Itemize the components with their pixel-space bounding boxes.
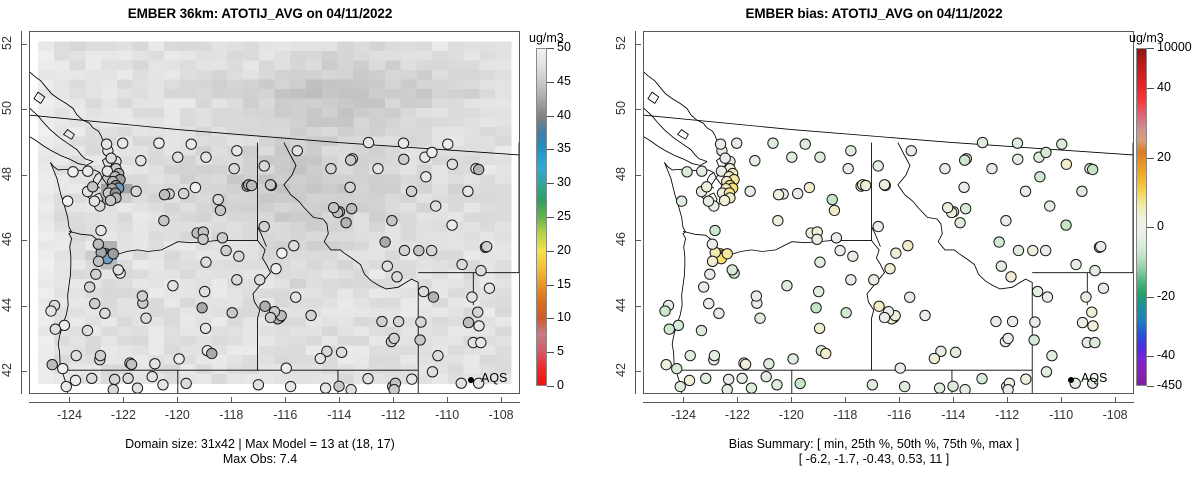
colorbar-tick-label: -20 xyxy=(1157,289,1175,303)
caption-line-1-model: Domain size: 31x42 | Max Model = 13 at (… xyxy=(0,437,520,452)
caption-line-1-bias: Bias Summary: [ min, 25th %, 50th %, 75t… xyxy=(614,437,1134,452)
panel-model: EMBER 36km: ATOTIJ_AVG on 04/11/2022 424… xyxy=(0,0,600,479)
x-axis-tick xyxy=(393,397,394,403)
plot-area-model[interactable] xyxy=(29,31,520,394)
y-axis-tick xyxy=(21,240,27,241)
x-axis-tick xyxy=(899,397,900,403)
x-axis-label: -114 xyxy=(930,408,976,422)
y-axis-label: 42 xyxy=(614,355,628,385)
colorbar-tick xyxy=(547,116,554,117)
y-axis-tick xyxy=(21,175,27,176)
colorbar-tick xyxy=(1147,158,1154,159)
x-axis-tick xyxy=(285,397,286,403)
x-axis-tick xyxy=(123,397,124,403)
colorbar-strip-bias xyxy=(1136,48,1147,386)
y-axis-tick xyxy=(21,306,27,307)
x-axis-label: -112 xyxy=(984,408,1030,422)
x-axis-label: -112 xyxy=(370,408,416,422)
colorbar-tick-label: 0 xyxy=(557,378,564,392)
x-axis-tick xyxy=(953,397,954,403)
y-axis-tick xyxy=(635,306,641,307)
colorbar-tick xyxy=(547,352,554,353)
colorbar-tick xyxy=(1147,297,1154,298)
x-axis-tick xyxy=(1007,397,1008,403)
y-axis-line xyxy=(635,31,636,394)
x-axis-tick xyxy=(339,397,340,403)
colorbar-tick-label: 15 xyxy=(557,277,571,291)
caption-line-2-model: Max Obs: 7.4 xyxy=(0,452,520,467)
colorbar-tick xyxy=(547,217,554,218)
y-axis-line xyxy=(21,31,22,394)
x-axis-tick xyxy=(737,397,738,403)
observation-points xyxy=(660,137,1109,393)
y-axis-tick xyxy=(21,109,27,110)
y-axis-label: 52 xyxy=(614,28,628,58)
aqs-legend-label-bias: AQS xyxy=(1081,371,1107,385)
y-axis-label: 46 xyxy=(0,224,14,254)
panel-title-model: EMBER 36km: ATOTIJ_AVG on 04/11/2022 xyxy=(0,6,520,21)
x-axis-tick xyxy=(1115,397,1116,403)
model-grid-raster xyxy=(38,42,511,384)
x-axis-tick xyxy=(791,397,792,403)
x-axis-tick xyxy=(1061,397,1062,403)
x-axis-label: -118 xyxy=(208,408,254,422)
x-axis-tick xyxy=(683,397,684,403)
y-axis-label: 50 xyxy=(614,93,628,123)
y-axis-label: 52 xyxy=(0,28,14,58)
colorbar-tick-label: 45 xyxy=(557,74,571,88)
colorbar-tick xyxy=(1147,356,1154,357)
y-axis-label: 48 xyxy=(614,159,628,189)
map-canvas-model xyxy=(30,32,519,393)
colorbar-tick-label: 5 xyxy=(557,344,564,358)
y-axis-tick xyxy=(635,175,641,176)
colorbar-tick xyxy=(547,149,554,150)
x-axis-label: -108 xyxy=(478,408,524,422)
panel-title-bias: EMBER bias: ATOTIJ_AVG on 04/11/2022 xyxy=(614,6,1134,21)
panel-bias: EMBER bias: ATOTIJ_AVG on 04/11/2022 424… xyxy=(600,0,1200,479)
y-axis-label: 44 xyxy=(614,290,628,320)
colorbar-tick-label: 50 xyxy=(557,40,571,54)
x-axis-label: -124 xyxy=(46,408,92,422)
colorbar-tick xyxy=(1147,227,1154,228)
colorbar-tick-label: 0 xyxy=(1157,219,1164,233)
colorbar-tick-label: -450 xyxy=(1157,378,1182,392)
colorbar-tick xyxy=(547,48,554,49)
x-axis-tick xyxy=(447,397,448,403)
colorbar-tick xyxy=(547,386,554,387)
x-axis-tick xyxy=(69,397,70,403)
y-axis-label: 50 xyxy=(0,93,14,123)
x-axis-label: -110 xyxy=(424,408,470,422)
x-axis-label: -118 xyxy=(822,408,868,422)
y-axis-tick xyxy=(21,371,27,372)
colorbar-tick-label: 30 xyxy=(557,175,571,189)
colorbar-tick-label: 40 xyxy=(1157,80,1171,94)
x-axis-label: -108 xyxy=(1092,408,1138,422)
y-axis-label: 44 xyxy=(0,290,14,320)
colorbar-tick-label: 40 xyxy=(557,108,571,122)
x-axis-label: -124 xyxy=(660,408,706,422)
x-axis-label: -116 xyxy=(876,408,922,422)
y-axis-tick xyxy=(635,109,641,110)
x-axis-tick xyxy=(231,397,232,403)
x-axis-label: -114 xyxy=(316,408,362,422)
x-axis-label: -120 xyxy=(768,408,814,422)
colorbar-tick xyxy=(547,318,554,319)
y-axis-label: 48 xyxy=(0,159,14,189)
caption-bias: Bias Summary: [ min, 25th %, 50th %, 75t… xyxy=(614,437,1134,467)
x-axis-label: -122 xyxy=(100,408,146,422)
colorbar-strip-model xyxy=(536,48,547,386)
aqs-legend-dot-bias xyxy=(1068,377,1074,383)
map-boundaries xyxy=(644,37,1133,393)
colorbar-tick-label: -40 xyxy=(1157,348,1175,362)
plot-area-bias[interactable] xyxy=(643,31,1134,394)
y-axis-tick xyxy=(635,44,641,45)
x-axis-label: -120 xyxy=(154,408,200,422)
colorbar-tick xyxy=(547,82,554,83)
x-axis-label: -122 xyxy=(714,408,760,422)
colorbar-tick-label: 35 xyxy=(557,141,571,155)
y-axis-tick xyxy=(635,371,641,372)
x-axis-label: -110 xyxy=(1038,408,1084,422)
y-axis-tick xyxy=(21,44,27,45)
colorbar-tick-label: 25 xyxy=(557,209,571,223)
colorbar-tick-label: 20 xyxy=(557,243,571,257)
y-axis-tick xyxy=(635,240,641,241)
x-axis-tick xyxy=(845,397,846,403)
x-axis-tick xyxy=(177,397,178,403)
map-canvas-bias xyxy=(644,32,1133,393)
colorbar-tick xyxy=(547,183,554,184)
aqs-legend-label-model: AQS xyxy=(481,371,507,385)
aqs-legend-dot-model xyxy=(468,377,474,383)
y-axis-label: 46 xyxy=(614,224,628,254)
x-axis-tick xyxy=(501,397,502,403)
y-axis-label: 42 xyxy=(0,355,14,385)
caption-model: Domain size: 31x42 | Max Model = 13 at (… xyxy=(0,437,520,467)
caption-line-2-bias: [ -6.2, -1.7, -0.43, 0.53, 11 ] xyxy=(614,452,1134,467)
colorbar-tick-label: 10000 xyxy=(1157,40,1192,54)
colorbar-tick xyxy=(547,251,554,252)
colorbar-tick xyxy=(1147,88,1154,89)
colorbar-tick xyxy=(1147,48,1154,49)
x-axis-label: -116 xyxy=(262,408,308,422)
colorbar-tick-label: 10 xyxy=(557,310,571,324)
colorbar-tick xyxy=(1147,386,1154,387)
colorbar-tick-label: 20 xyxy=(1157,150,1171,164)
colorbar-tick xyxy=(547,285,554,286)
